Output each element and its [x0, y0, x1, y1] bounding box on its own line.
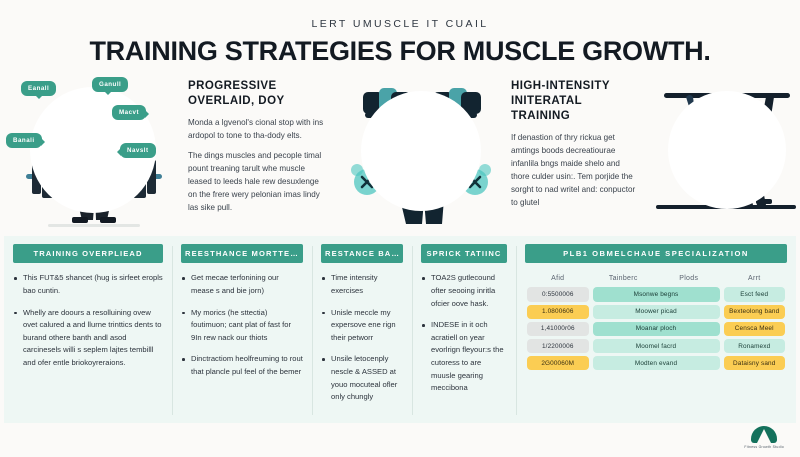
- table-row: 1,41000r06 Moanar ploch Censca Meel: [525, 322, 787, 336]
- list-item: Unsile letocenply nescle & ASSED at youo…: [321, 353, 403, 403]
- table-row: 1/2200006 Moomel facrd Ronamexd: [525, 339, 787, 353]
- column-header: Arrt: [722, 275, 788, 284]
- list-item: Unisle meccle my expersove ene rign thei…: [321, 307, 403, 345]
- table-cell: Censca Meel: [724, 322, 786, 336]
- callout-badge: Macvt: [112, 105, 146, 120]
- panel-resistance-method: Reesthance Mortted[Xx Get mecae terfonin…: [172, 236, 312, 423]
- table-cell: 2G00060M: [527, 356, 589, 370]
- list-item: Dinctractiom heolfreuming to rout that p…: [181, 353, 303, 378]
- logo-mark-icon: [751, 426, 777, 443]
- bullet-list: TOA2S gutlecound ofter seooing inritla o…: [421, 272, 507, 403]
- panel-resistance-band: Restance Band Time intensity exercises U…: [312, 236, 412, 423]
- panel-sprick-training: Sprick Tatiinc TOA2S gutlecound ofter se…: [412, 236, 516, 423]
- table-cell: Ronamexd: [724, 339, 786, 353]
- bullet-list: This FUT&5 shancet (hug is sirfeet eropl…: [13, 272, 163, 378]
- list-item: INDESE in it och acratiell on year evorl…: [421, 319, 507, 395]
- table-cell: Dataisny sand: [724, 356, 786, 370]
- table-cell: Bexteolong band: [724, 305, 786, 319]
- table-cell: Moower picad: [593, 305, 720, 319]
- list-item: Time intensity exercises: [321, 272, 403, 297]
- hero-block-title: High-Intensity Initeratal Training: [511, 79, 640, 123]
- logo-caption: Fitness Growth Studio: [744, 445, 784, 449]
- table-cell: 1,41000r06: [527, 322, 589, 336]
- list-item: TOA2S gutlecound ofter seooing inritla o…: [421, 272, 507, 310]
- panel-heading: Training Overpliead: [13, 244, 163, 263]
- panel-heading: Plb1 Obmelchaue Specialization: [525, 244, 787, 263]
- callout-badge: Ganull: [92, 77, 128, 92]
- table-row: 1.0800606 Moower picad Bexteolong band: [525, 305, 787, 319]
- list-item: Get mecae terfonining our mease s and bi…: [181, 272, 303, 297]
- column-header: Afid: [525, 275, 591, 284]
- callout-badge: Navslt: [120, 143, 156, 158]
- hero-block-paragraph: The dings muscles and pecople timal poun…: [188, 149, 327, 215]
- table-cell: Moomel facrd: [593, 339, 720, 353]
- panel-heading: Restance Band: [321, 244, 403, 263]
- table-header-row: Afid Tainberc Plods Arrt: [525, 275, 787, 284]
- callout-badge: Eanall: [21, 81, 56, 96]
- pullup-illustration: [650, 71, 800, 236]
- hero-band: Eanall Banali Ganull Macvt Navslt Progre…: [0, 71, 800, 236]
- poster-header: LERT UMUSCLE IT CUAIL Training Strategie…: [0, 0, 800, 71]
- hero-block-paragraph: Monda a lgvenol's cional stop with ins a…: [188, 116, 327, 142]
- list-item: Whelly are doours a resolluining ovew ov…: [13, 307, 163, 370]
- column-header: Plods: [656, 275, 722, 284]
- eyebrow-text: LERT UMUSCLE IT CUAIL: [0, 18, 800, 30]
- shoulder-press-illustration: [337, 71, 505, 236]
- column-header: Tainberc: [591, 275, 657, 284]
- table-cell: 1/2200006: [527, 339, 589, 353]
- table-cell: Esct feed: [724, 287, 786, 301]
- table-cell: 1.0800606: [527, 305, 589, 319]
- panel-training-overload: Training Overpliead This FUT&5 shancet (…: [4, 236, 172, 423]
- table-cell: Moanar ploch: [593, 322, 720, 336]
- hero-block-title: Progressive Overlaid, Doy: [188, 79, 327, 108]
- poster-footer: Fitness Growth Studio: [0, 423, 800, 457]
- brand-logo: Fitness Growth Studio: [744, 426, 784, 449]
- table-cell: Msonwe begns: [593, 287, 720, 301]
- list-item: My morics (he sttectia) foutimuon; cant …: [181, 307, 303, 345]
- infographic-poster: LERT UMUSCLE IT CUAIL Training Strategie…: [0, 0, 800, 457]
- hero-block-hiit: High-Intensity Initeratal Training If de…: [505, 71, 650, 236]
- list-item: This FUT&5 shancet (hug is sirfeet eropl…: [13, 272, 163, 297]
- panel-heading: Reesthance Mortted[Xx: [181, 244, 303, 263]
- table-row: 2G00060M Modten evand Dataisny sand: [525, 356, 787, 370]
- table-cell: Modten evand: [593, 356, 720, 370]
- table-cell: 0:5500006: [527, 287, 589, 301]
- bullet-list: Time intensity exercises Unisle meccle m…: [321, 272, 403, 412]
- deadlift-illustration: Eanall Banali Ganull Macvt Navslt: [4, 71, 182, 236]
- callout-badge: Banali: [6, 133, 42, 148]
- bullet-list: Get mecae terfonining our mease s and bi…: [181, 272, 303, 387]
- hero-block-paragraph: If denastion of thry rickua get amtings …: [511, 131, 640, 210]
- hero-block-progressive-overload: Progressive Overlaid, Doy Monda a lgveno…: [182, 71, 337, 236]
- page-title: Training Strategies for Muscle Growth.: [0, 37, 800, 65]
- panel-row: Training Overpliead This FUT&5 shancet (…: [0, 236, 800, 423]
- panel-heading: Sprick Tatiinc: [421, 244, 507, 263]
- panel-specialization-table: Plb1 Obmelchaue Specialization Afid Tain…: [516, 236, 796, 423]
- specialization-table: Afid Tainberc Plods Arrt 0:5500006 Msonw…: [525, 272, 787, 373]
- table-row: 0:5500006 Msonwe begns Esct feed: [525, 287, 787, 301]
